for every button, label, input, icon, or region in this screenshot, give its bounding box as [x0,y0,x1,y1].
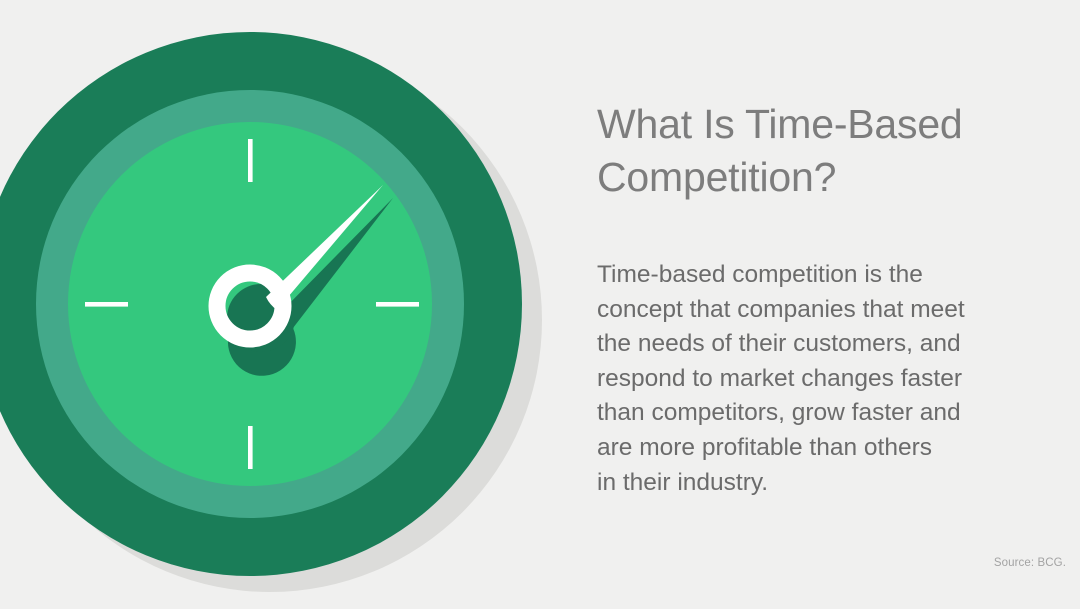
clock-tick-3 [376,302,419,307]
clock-tick-6 [248,426,253,469]
page-title: What Is Time-Based Competition? [597,98,1017,204]
clock-tick-12 [248,139,253,182]
clock-tick-9 [85,302,128,307]
text-column: What Is Time-Based Competition? Time-bas… [597,98,1017,204]
body-paragraph: Time-based competition is the concept th… [597,258,997,500]
clock-illustration [0,14,550,599]
slide-canvas: What Is Time-Based Competition? Time-bas… [0,0,1080,609]
source-note: Source: BCG. [994,557,1066,569]
